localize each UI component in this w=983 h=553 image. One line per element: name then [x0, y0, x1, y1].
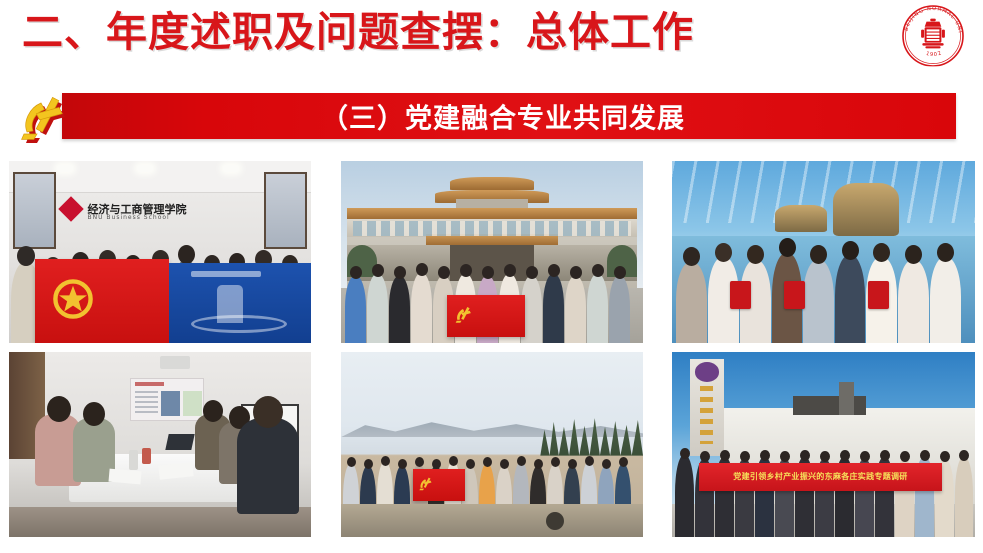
cpc-party-emblem-icon	[14, 89, 74, 147]
header-divider	[0, 66, 983, 75]
photo-large-group-in-rural-field[interactable]	[341, 352, 643, 537]
svg-text:1902: 1902	[925, 50, 943, 58]
section-banner-title: （三）党建融合专业共同发展	[62, 97, 956, 136]
photo3-certificate	[868, 281, 889, 309]
section-banner: （三）党建融合专业共同发展	[62, 93, 956, 139]
photo2-party-flag	[447, 295, 525, 337]
page-title: 二、年度述职及问题查摆：总体工作	[22, 6, 694, 58]
photo1-school-flag	[169, 263, 311, 343]
photo6-people	[672, 448, 975, 537]
slide-root: 二、年度述职及问题查摆：总体工作 BEIJING NORMAL UNIVERSI…	[0, 0, 983, 553]
photo-grid: 经济与工商管理学院 BNU Business School	[9, 161, 975, 543]
photo3-people	[672, 230, 975, 343]
slide-header: 二、年度述职及问题查摆：总体工作 BEIJING NORMAL UNIVERSI…	[0, 0, 983, 78]
photo-group-with-league-and-school-flags[interactable]: 经济与工商管理学院 BNU Business School	[9, 161, 311, 343]
photo-students-holding-red-certificates[interactable]	[672, 161, 975, 343]
photo-meeting-room-discussion[interactable]	[9, 352, 311, 537]
photo1-backdrop-subtitle: BNU Business School	[88, 214, 245, 221]
photo3-certificate	[730, 281, 751, 309]
university-seal-logo: BEIJING NORMAL UNIVERSITY 1902	[899, 2, 967, 70]
photo3-certificate	[784, 281, 805, 309]
photo6-banner-text: 党建引领乡村产业振兴的东麻各庄实践专题调研	[733, 471, 907, 482]
photo5-party-flag	[413, 469, 465, 501]
photo4-person	[237, 418, 299, 514]
photo-village-research-banner[interactable]: 党建引领乡村产业振兴的东麻各庄实践专题调研	[672, 352, 975, 537]
photo6-research-banner: 党建引领乡村产业振兴的东麻各庄实践专题调研	[699, 463, 941, 491]
photo-group-in-front-of-traditional-building[interactable]	[341, 161, 643, 343]
photo1-league-flag	[35, 259, 169, 343]
